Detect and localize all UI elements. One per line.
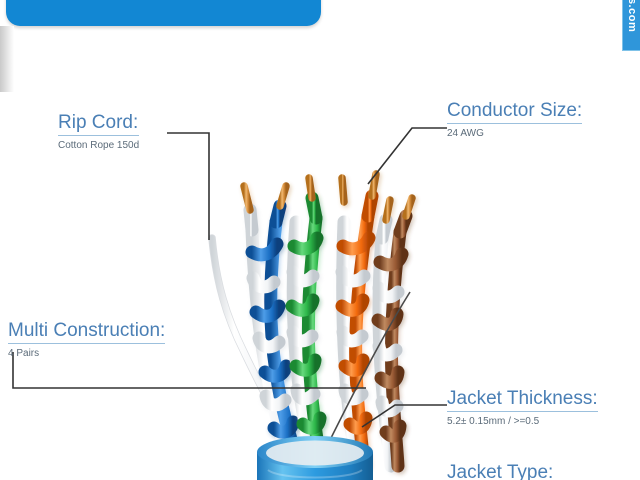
site-watermark-text: les.com	[626, 0, 638, 32]
site-watermark-tab[interactable]: les.com	[622, 0, 640, 51]
callout-multi-construction-value: 4 Pairs	[8, 348, 165, 360]
callout-rip-cord: Rip Cord: Cotton Rope 150d	[58, 112, 139, 152]
header-banner: Cat5e UTP Cable Structure	[6, 0, 321, 26]
callout-jacket-type: Jacket Type:	[447, 462, 553, 480]
callout-jacket-type-title: Jacket Type:	[447, 462, 553, 480]
page-left-edge-shadow	[0, 26, 14, 92]
callout-jacket-thickness: Jacket Thickness: 5.2± 0.15mm / >=0.5	[447, 388, 598, 428]
callout-rip-cord-value: Cotton Rope 150d	[58, 140, 139, 152]
callout-jacket-thickness-title: Jacket Thickness:	[447, 388, 598, 412]
callout-conductor-size-value: 24 AWG	[447, 128, 582, 140]
brown-white-pair	[378, 198, 412, 466]
callout-jacket-thickness-value: 5.2± 0.15mm / >=0.5	[447, 416, 598, 428]
orange-white-pair	[342, 174, 376, 464]
callout-conductor-size-title: Conductor Size:	[447, 100, 582, 124]
callout-multi-construction-title: Multi Construction:	[8, 320, 165, 344]
callout-conductor-size: Conductor Size: 24 AWG	[447, 100, 582, 140]
cable-outer-jacket	[257, 436, 373, 480]
cable-diagram-page: Cat5e UTP Cable Structure les.com Rip Co…	[0, 0, 640, 480]
callout-multi-construction: Multi Construction: 4 Pairs	[8, 320, 165, 360]
callout-rip-cord-title: Rip Cord:	[58, 112, 139, 136]
